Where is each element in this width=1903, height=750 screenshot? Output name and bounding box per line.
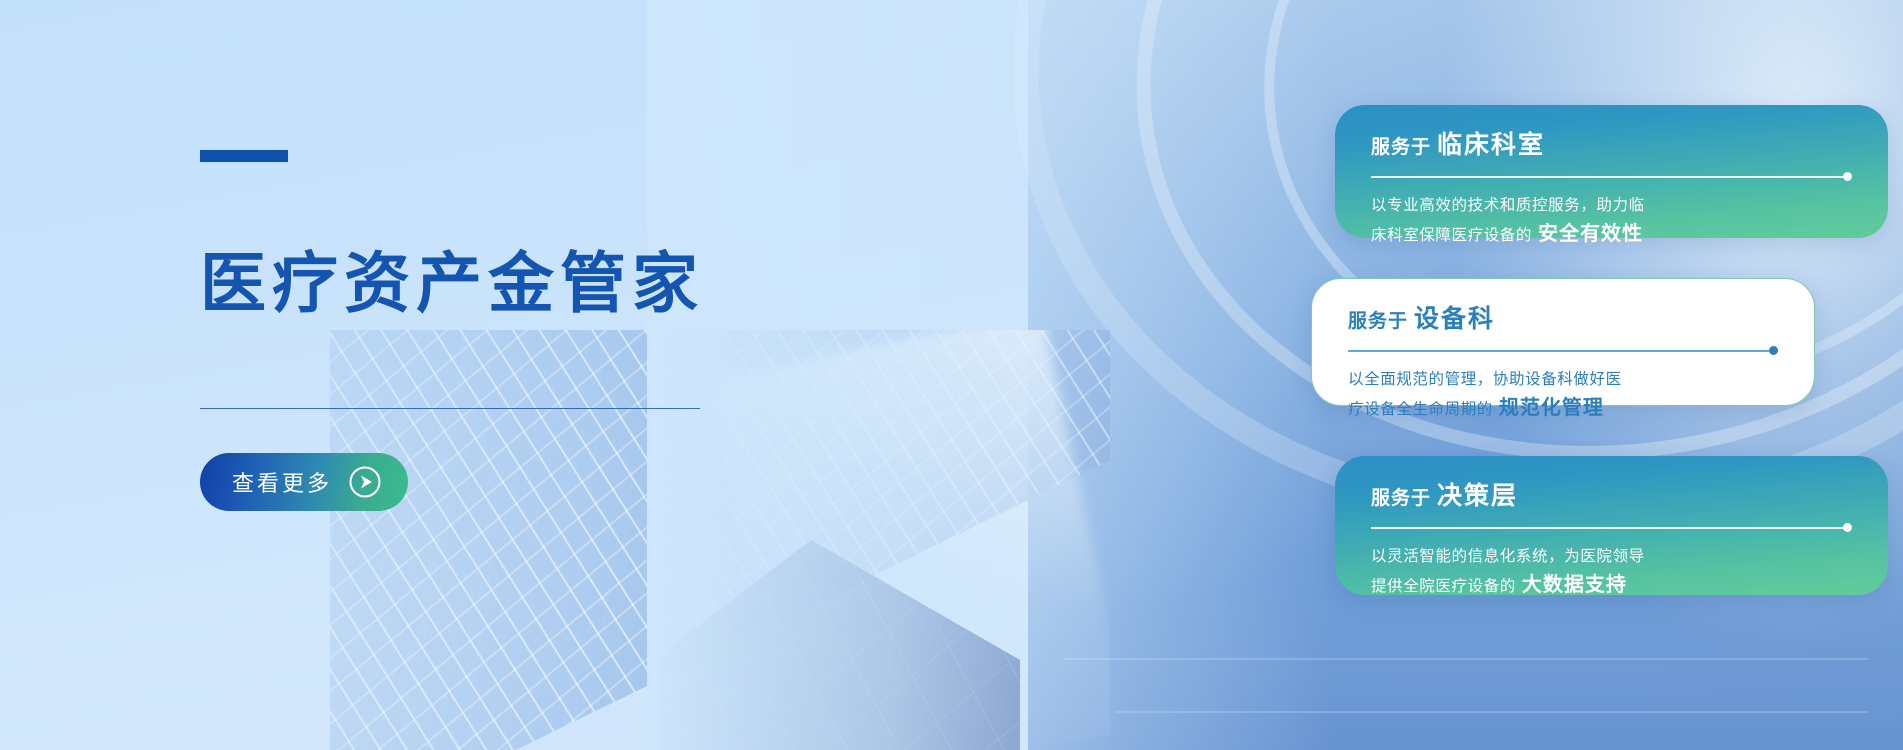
card-title: 服务于设备科 [1348, 307, 1778, 332]
card-title-subject: 设备科 [1414, 305, 1495, 333]
card-description-line1: 以全面规范的管理，协助设备科做好医 [1348, 371, 1622, 388]
card-description-line2: 疗设备全生命周期的 [1348, 401, 1493, 418]
card-title-prefix: 服务于 [1371, 137, 1431, 158]
content-divider [200, 408, 700, 409]
card-title-subject: 决策层 [1437, 482, 1518, 510]
arrow-right-circle-icon [348, 465, 382, 499]
card-description-line2: 提供全院医疗设备的 [1371, 578, 1516, 595]
card-rule-dot-icon [1769, 346, 1778, 355]
card-title-prefix: 服务于 [1348, 311, 1408, 332]
card-description-emphasis: 规范化管理 [1499, 397, 1604, 419]
card-rule-line [1371, 176, 1843, 178]
card-description: 以专业高效的技术和质控服务，助力临 床科室保障医疗设备的安全有效性 [1371, 193, 1852, 251]
hero-banner: 医疗资产金管家 查看更多 服务于临床科室 以专业高效的技术和质控服务，助力临 [0, 0, 1903, 750]
card-title: 服务于临床科室 [1371, 133, 1852, 158]
hero-content: 医疗资产金管家 查看更多 [200, 150, 720, 511]
view-more-button[interactable]: 查看更多 [200, 453, 408, 511]
card-rule-line [1371, 527, 1843, 529]
service-card-equipment[interactable]: 服务于设备科 以全面规范的管理，协助设备科做好医 疗设备全生命周期的规范化管理 [1311, 278, 1815, 406]
card-title-subject: 临床科室 [1437, 131, 1545, 159]
card-rule [1348, 346, 1778, 355]
card-rule [1371, 523, 1852, 532]
service-card-clinical[interactable]: 服务于临床科室 以专业高效的技术和质控服务，助力临 床科室保障医疗设备的安全有效… [1335, 105, 1888, 238]
page-title: 医疗资产金管家 [200, 250, 720, 316]
card-rule [1371, 172, 1852, 181]
card-rule-dot-icon [1843, 523, 1852, 532]
accent-dash [200, 150, 288, 162]
background-facade-glow [709, 330, 1110, 750]
card-description-emphasis: 大数据支持 [1522, 574, 1627, 596]
card-description-emphasis: 安全有效性 [1538, 223, 1643, 245]
background-facade-crown [660, 540, 1020, 750]
card-description: 以灵活智能的信息化系统，为医院领导 提供全院医疗设备的大数据支持 [1371, 544, 1852, 602]
view-more-label: 查看更多 [232, 466, 332, 498]
card-description-line2: 床科室保障医疗设备的 [1371, 227, 1532, 244]
card-title: 服务于决策层 [1371, 484, 1852, 509]
service-card-decision[interactable]: 服务于决策层 以灵活智能的信息化系统，为医院领导 提供全院医疗设备的大数据支持 [1335, 456, 1888, 595]
card-title-prefix: 服务于 [1371, 488, 1431, 509]
card-rule-dot-icon [1843, 172, 1852, 181]
card-description: 以全面规范的管理，协助设备科做好医 疗设备全生命周期的规范化管理 [1348, 367, 1778, 425]
service-card-list: 服务于临床科室 以专业高效的技术和质控服务，助力临 床科室保障医疗设备的安全有效… [1143, 0, 1903, 750]
card-rule-line [1348, 350, 1769, 352]
card-description-line1: 以专业高效的技术和质控服务，助力临 [1371, 197, 1645, 214]
card-description-line1: 以灵活智能的信息化系统，为医院领导 [1371, 548, 1645, 565]
